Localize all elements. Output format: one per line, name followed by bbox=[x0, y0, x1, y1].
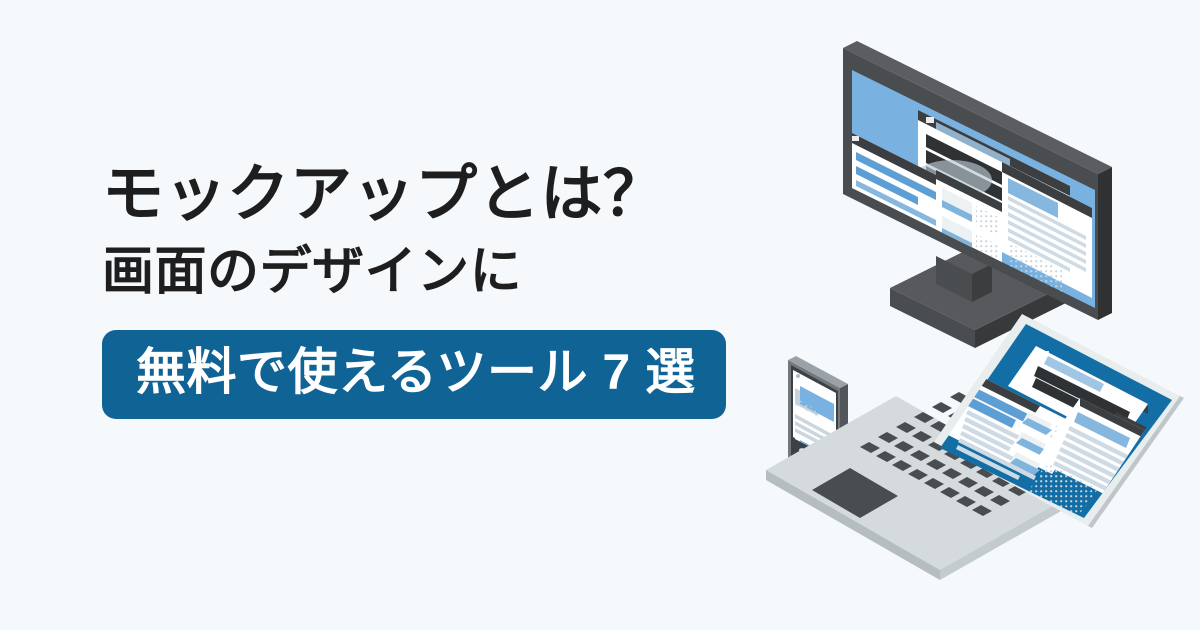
status-badge: 無料で使えるツール 7 選 bbox=[102, 330, 726, 419]
laptop-group bbox=[766, 314, 1184, 580]
poster-canvas: モックアップとは？ 画面のデザインに 無料で使えるツール 7 選 bbox=[0, 0, 1200, 630]
page-title-line-1: モックアップとは？ bbox=[102, 160, 782, 229]
page-title-line-2: 画面のデザインに bbox=[102, 241, 782, 303]
desktop-monitor-group bbox=[843, 41, 1112, 348]
text-block: モックアップとは？ 画面のデザインに 無料で使えるツール 7 選 bbox=[102, 160, 782, 419]
device-illustration bbox=[740, 20, 1200, 580]
